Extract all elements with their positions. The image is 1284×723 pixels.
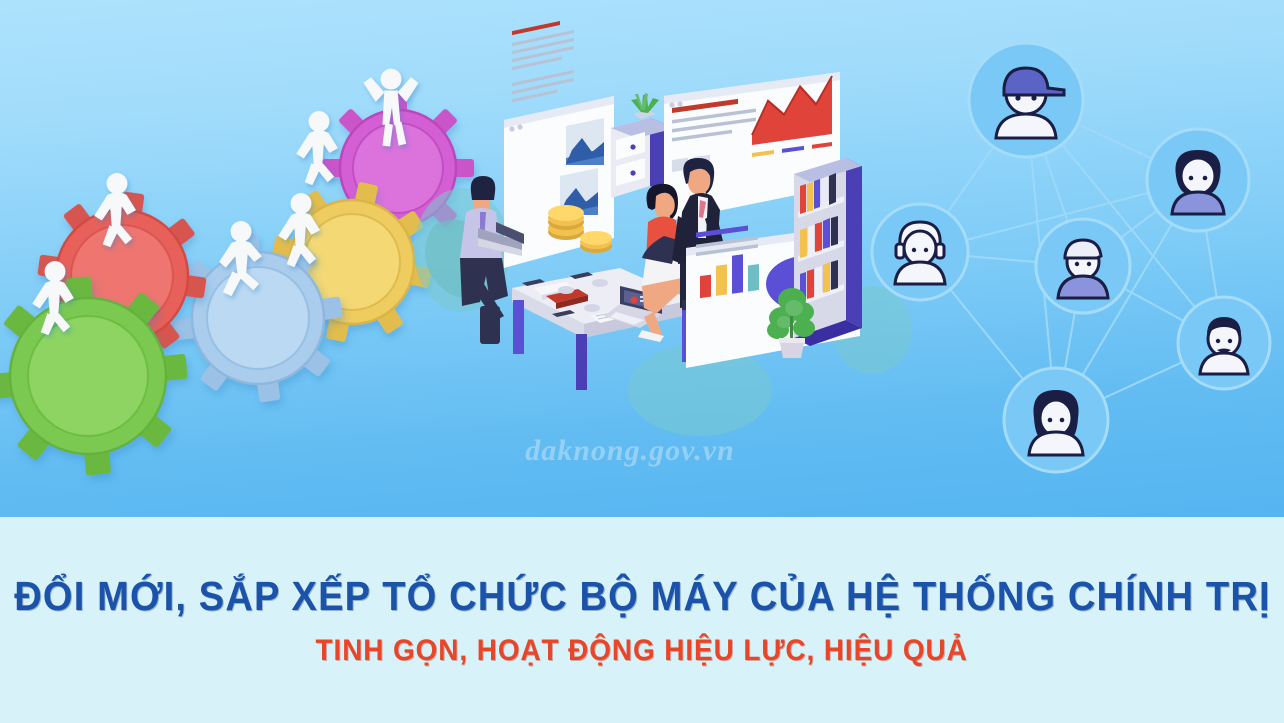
bottom-banner: ĐỔI MỚI, SẮP XẾP TỔ CHỨC BỘ MÁY CỦA HỆ T… [0,517,1284,723]
node-woman-dark[interactable] [1147,129,1249,231]
node-person-headset[interactable] [872,204,968,300]
node-man-white-cap[interactable] [1036,219,1130,313]
poster-root: daknong.gov.vn ĐỔI MỚI, SẮP XẾP TỔ CHỨC … [0,0,1284,723]
banner-subhead: TINH GỌN, HOẠT ĐỘNG HIỆU LỰC, HIỆU QUẢ [316,634,968,668]
node-woman-long[interactable] [1004,368,1108,472]
network-illustration [0,0,1284,520]
banner-headline: ĐỔI MỚI, SẮP XẾP TỔ CHỨC BỘ MÁY CỦA HỆ T… [14,573,1270,620]
node-man-mustache[interactable] [1178,297,1270,389]
node-man-cap[interactable] [969,43,1083,157]
